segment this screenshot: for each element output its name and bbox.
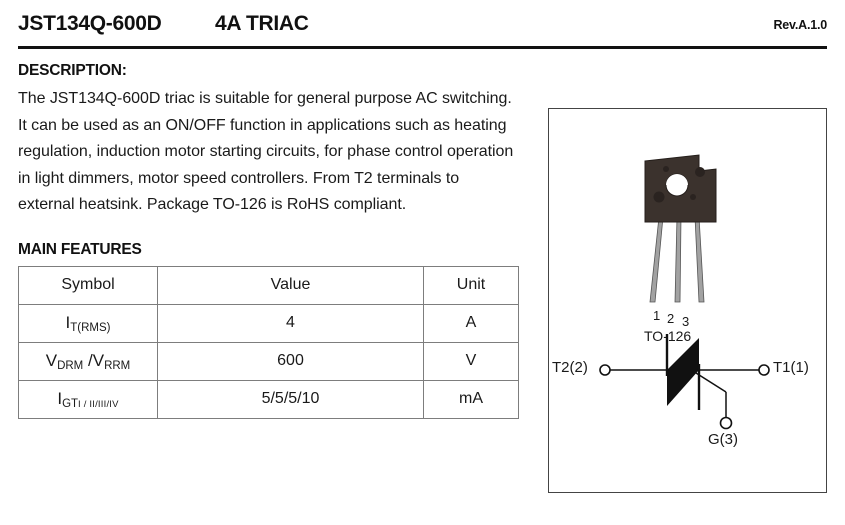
cell-symbol: VDRM /VRRM [19,342,158,380]
cell-symbol: IGTI / II/III/IV [19,380,158,418]
main-features-heading: MAIN FEATURES [18,241,523,259]
description-paragraph: The JST134Q-600D triac is suitable for g… [18,86,518,219]
diagram-panel: 1 2 3 1 2 3 TO-126 [548,108,827,493]
package-leads [650,217,704,302]
symbol-igt: IGTI / II/III/IV [57,389,118,408]
table-row: IT(RMS) 4 A [19,304,519,342]
package-body [645,155,716,222]
cell-value: 4 [158,304,424,342]
main-features-table: Symbol Value Unit IT(RMS) 4 A VDRM /VRRM… [18,266,519,419]
cell-unit: mA [424,380,519,418]
symbol-it-rms: IT(RMS) [66,313,111,332]
column-header-value: Value [158,266,424,304]
table-row: IGTI / II/III/IV 5/5/5/10 mA [19,380,519,418]
pin-label-1: 1 [653,308,660,323]
cell-unit: V [424,342,519,380]
cell-value: 5/5/5/10 [158,380,424,418]
symbol-vdrm-vrrm: VDRM /VRRM [46,351,131,370]
revision-label: Rev.A.1.0 [773,18,827,32]
table-row: VDRM /VRRM 600 V [19,342,519,380]
terminal-label-t1: T1(1) [773,359,809,376]
package-drawing: 1 2 3 1 2 3 TO-126 [549,109,826,324]
table-header-row: Symbol Value Unit [19,266,519,304]
to126-package-icon: 1 2 3 [549,109,826,324]
cell-unit: A [424,304,519,342]
triac-schematic: T2(2) T1(1) G(3) [549,324,826,490]
description-heading: DESCRIPTION: [18,62,523,80]
cell-value: 600 [158,342,424,380]
left-content-column: DESCRIPTION: The JST134Q-600D triac is s… [18,62,523,419]
column-header-symbol: Symbol [19,266,158,304]
page-header: JST134Q-600D 4A TRIAC Rev.A.1.0 [18,12,827,46]
column-header-unit: Unit [424,266,519,304]
terminal-label-t2: T2(2) [552,359,588,376]
header-divider [18,46,827,49]
part-type-title: 4A TRIAC [215,12,309,36]
cell-symbol: IT(RMS) [19,304,158,342]
part-number-title: JST134Q-600D [18,12,161,36]
terminal-label-gate: G(3) [708,431,738,448]
